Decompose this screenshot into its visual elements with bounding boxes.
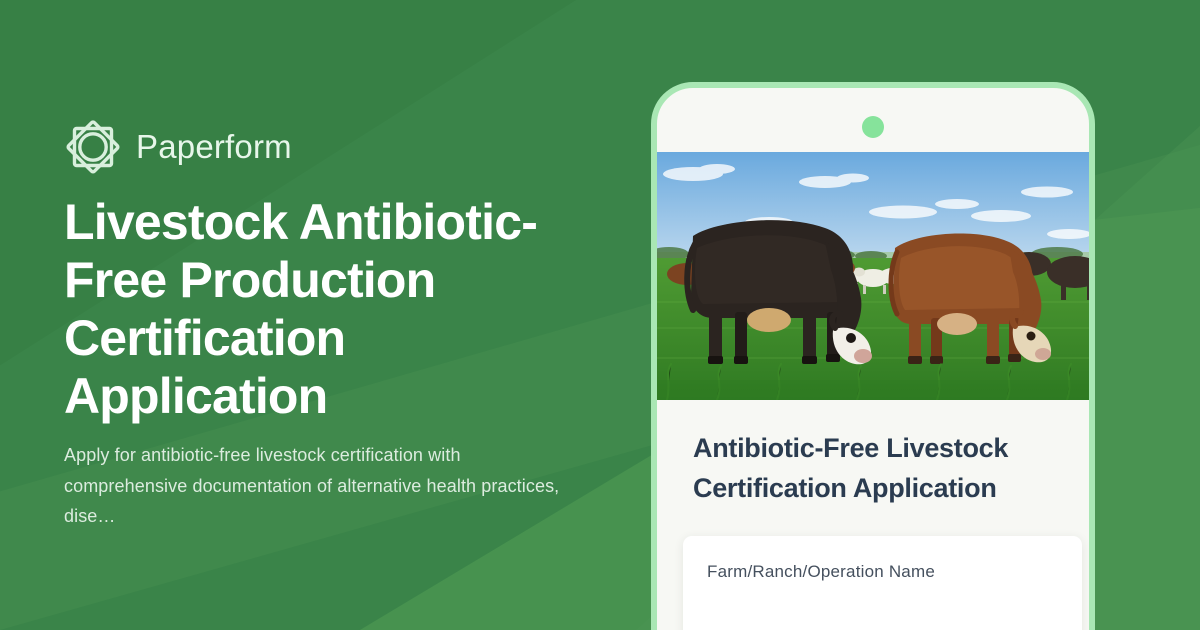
page-title: Livestock Antibiotic-Free Production Cer… [64,193,604,425]
brand-wordmark: Paperform [136,128,292,166]
paperform-logo-icon [64,118,122,176]
form-hero-image [657,152,1089,400]
farm-name-input[interactable] [707,618,1058,630]
form-field-card[interactable]: Farm/Ranch/Operation Name [683,536,1082,630]
phone-mockup: Antibiotic-Free Livestock Certification … [651,82,1095,630]
form-title: Antibiotic-Free Livestock Certification … [693,428,1071,508]
left-content-column: Paperform Livestock Antibiotic-Free Prod… [64,0,624,630]
page-subtitle: Apply for antibiotic-free livestock cert… [64,440,584,532]
camera-dot-icon [862,116,884,138]
field-label-farm-name: Farm/Ranch/Operation Name [707,562,935,582]
brand-lockup: Paperform [64,118,292,176]
og-image-canvas: Paperform Livestock Antibiotic-Free Prod… [0,0,1200,630]
